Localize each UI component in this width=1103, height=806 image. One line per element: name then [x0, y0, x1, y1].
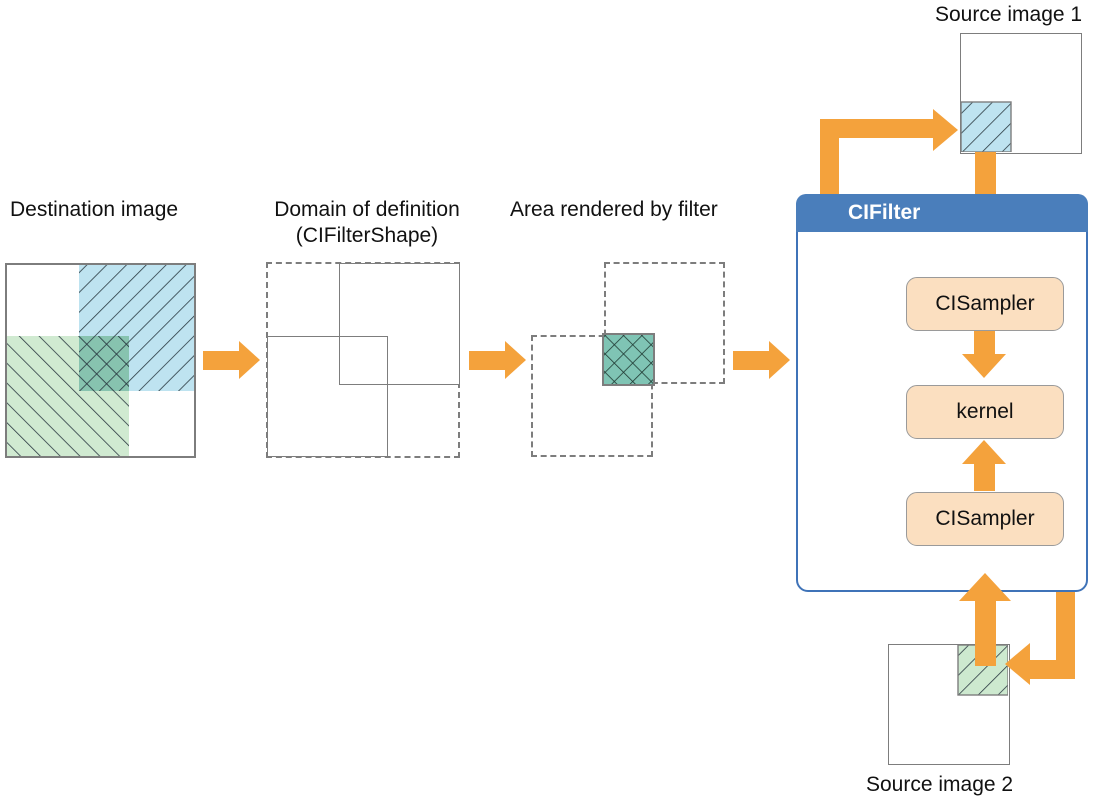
arrow-sampler2-to-kernel-shaft — [974, 463, 995, 491]
node-cisampler-bottom[interactable]: CISampler — [906, 492, 1064, 546]
cifilter-panel-header: CIFilter — [796, 194, 1088, 232]
label-domain-of-definition-line2: (CIFilterShape) — [258, 223, 476, 249]
diagram-canvas: Destination image Domain of definition (… — [0, 0, 1103, 806]
label-destination-image: Destination image — [10, 197, 178, 223]
arrow-to-source2-horizontal — [1029, 660, 1075, 679]
label-domain-of-definition-line1: Domain of definition — [258, 197, 476, 223]
area-intersection — [531, 262, 727, 460]
destination-image-regions — [7, 265, 194, 456]
area-rendered-group — [531, 262, 727, 460]
arrow-1-head — [239, 341, 260, 379]
label-source-image-2: Source image 2 — [866, 772, 1013, 798]
arrow-to-source1-head — [933, 109, 958, 151]
source-image-1-box — [960, 33, 1082, 154]
label-area-rendered-by-filter: Area rendered by filter — [510, 197, 718, 223]
node-cisampler-top[interactable]: CISampler — [906, 277, 1064, 331]
arrow-1-shaft — [203, 351, 239, 370]
node-kernel[interactable]: kernel — [906, 385, 1064, 439]
arrow-to-source1-horizontal — [820, 119, 933, 138]
domain-square-source2 — [267, 336, 388, 457]
label-source-image-1: Source image 1 — [935, 2, 1082, 28]
arrow-3-shaft — [733, 351, 769, 370]
arrow-to-source2-head — [1005, 643, 1030, 685]
arrow-sampler2-to-kernel-head — [962, 440, 1006, 464]
arrow-2-shaft — [469, 351, 505, 370]
cifilter-panel-title: CIFilter — [848, 201, 920, 225]
source-image-1-region — [961, 34, 1080, 152]
arrow-2-head — [505, 341, 526, 379]
arrow-3-head — [769, 341, 790, 379]
arrow-source2-into-filter-head — [959, 573, 1011, 601]
destination-image-box — [5, 263, 196, 458]
arrow-sampler1-to-kernel-head — [962, 354, 1006, 378]
arrow-source2-into-filter-shaft — [975, 600, 996, 666]
domain-of-definition-group — [266, 262, 462, 460]
